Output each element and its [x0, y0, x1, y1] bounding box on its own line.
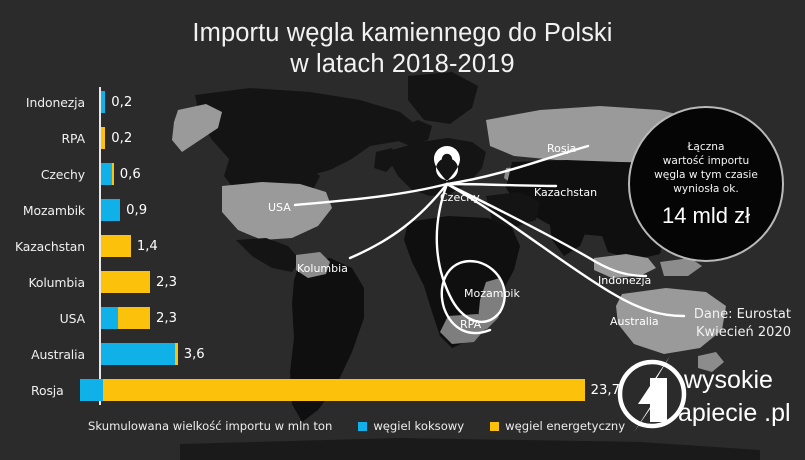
stacked-bar: [101, 91, 105, 113]
import-bar-chart: Indonezja0,2RPA0,2Czechy0,6Mozambik0,9Ka…: [0, 84, 620, 409]
map-label-rpa: RPA: [460, 318, 481, 331]
map-label-australia: Australia: [610, 315, 659, 328]
callout-text: Łączna wartość importu węgla w tym czasi…: [654, 140, 758, 197]
table-row: Australia3,6: [0, 336, 620, 372]
bar-category-label: Czechy: [0, 167, 92, 182]
bar-wrapper: 23,7: [80, 372, 620, 408]
legend-caption: Skumulowana wielkość importu w mln ton: [88, 419, 332, 433]
bar-segment-thermal: [112, 163, 114, 185]
logo-text-line-1: wysokie: [683, 366, 773, 394]
total-value-callout: Łączna wartość importu węgla w tym czasi…: [628, 106, 784, 262]
bar-wrapper: 2,3: [101, 300, 177, 336]
bar-wrapper: 3,6: [101, 336, 205, 372]
table-row: Indonezja0,2: [0, 84, 620, 120]
bar-wrapper: 0,2: [101, 120, 132, 156]
map-label-indonezja: Indonezja: [598, 274, 651, 287]
bar-segment-thermal: [175, 343, 178, 365]
bar-value-label: 0,2: [111, 95, 132, 110]
source-line-2: Kwiecień 2020: [694, 324, 791, 342]
stacked-bar: [101, 343, 178, 365]
bar-category-label: Australia: [0, 347, 92, 362]
bar-segment-thermal: [101, 271, 150, 293]
stacked-bar: [101, 271, 150, 293]
bar-value-label: 0,6: [120, 167, 141, 182]
stacked-bar: [80, 379, 585, 401]
logo-n-stem-icon: [650, 378, 667, 422]
bar-segment-thermal: [103, 379, 585, 401]
page-title: Importu węgla kamiennego do Polski w lat…: [150, 18, 655, 80]
map-label-czechy: Czechy: [440, 191, 480, 204]
map-label-kolumbia: Kolumbia: [297, 262, 348, 275]
bar-segment-coking: [101, 91, 105, 113]
bar-category-label: Indonezja: [0, 95, 92, 110]
bar-segment-thermal: [101, 235, 131, 257]
callout-line-3: węgla w tym czasie: [654, 168, 758, 182]
logo-text-line-2: apiecie .pl: [678, 399, 791, 427]
stacked-bar: [101, 127, 105, 149]
stacked-bar: [101, 235, 131, 257]
bar-wrapper: 0,2: [101, 84, 132, 120]
table-row: Kazachstan1,4: [0, 228, 620, 264]
legend-swatch-thermal-icon: [490, 422, 499, 431]
bar-category-label: Rosja: [0, 383, 71, 398]
map-label-rosja: Rosja: [547, 142, 576, 155]
table-row: Czechy0,6: [0, 156, 620, 192]
stacked-bar: [101, 199, 120, 221]
chart-legend: Skumulowana wielkość importu w mln ton w…: [88, 419, 625, 433]
bar-segment-coking: [101, 199, 120, 221]
bar-segment-coking: [80, 379, 103, 401]
bar-wrapper: 2,3: [101, 264, 177, 300]
bar-segment-coking: [101, 343, 175, 365]
bar-category-label: RPA: [0, 131, 92, 146]
bar-wrapper: 1,4: [101, 228, 158, 264]
title-line-1: Importu węgla kamiennego do Polski: [150, 18, 655, 49]
map-label-usa: USA: [268, 201, 291, 214]
map-label-kazachstan: Kazachstan: [534, 186, 597, 199]
callout-line-2: wartość importu: [654, 154, 758, 168]
bar-value-label: 0,9: [126, 203, 147, 218]
stacked-bar: [101, 307, 150, 329]
bar-value-label: 2,3: [156, 275, 177, 290]
bar-category-label: Mozambik: [0, 203, 92, 218]
callout-line-4: wyniosła ok.: [654, 182, 758, 196]
bar-wrapper: 0,6: [101, 156, 141, 192]
bar-category-label: Kolumbia: [0, 275, 92, 290]
stacked-bar: [101, 163, 114, 185]
bar-segment-thermal: [118, 307, 150, 329]
bar-wrapper: 0,9: [101, 192, 147, 228]
bar-value-label: 1,4: [137, 239, 158, 254]
title-line-2: w latach 2018-2019: [150, 49, 655, 80]
callout-line-1: Łączna: [654, 140, 758, 154]
callout-amount: 14 mld zł: [662, 203, 750, 228]
source-attribution: Dane: Eurostat Kwiecień 2020: [694, 306, 791, 342]
bar-value-label: 2,3: [156, 311, 177, 326]
bar-segment-thermal: [101, 127, 105, 149]
legend-label-coking: węgiel koksowy: [373, 419, 464, 433]
table-row: RPA0,2: [0, 120, 620, 156]
map-label-mozambik: Mozambik: [464, 287, 520, 300]
bar-segment-coking: [101, 163, 112, 185]
bar-category-label: USA: [0, 311, 92, 326]
table-row: Mozambik0,9: [0, 192, 620, 228]
table-row: USA2,3: [0, 300, 620, 336]
bar-value-label: 3,6: [184, 347, 205, 362]
legend-swatch-coking-icon: [358, 422, 367, 431]
legend-item-thermal: węgiel energetyczny: [490, 419, 625, 433]
legend-item-coking: węgiel koksowy: [358, 419, 464, 433]
wysokie-napiecie-logo[interactable]: wysokie apiecie .pl: [608, 352, 798, 432]
bar-value-label: 0,2: [111, 131, 132, 146]
source-line-1: Dane: Eurostat: [694, 306, 791, 324]
table-row: Rosja23,7: [0, 372, 620, 408]
bar-segment-coking: [101, 307, 118, 329]
bar-category-label: Kazachstan: [0, 239, 92, 254]
